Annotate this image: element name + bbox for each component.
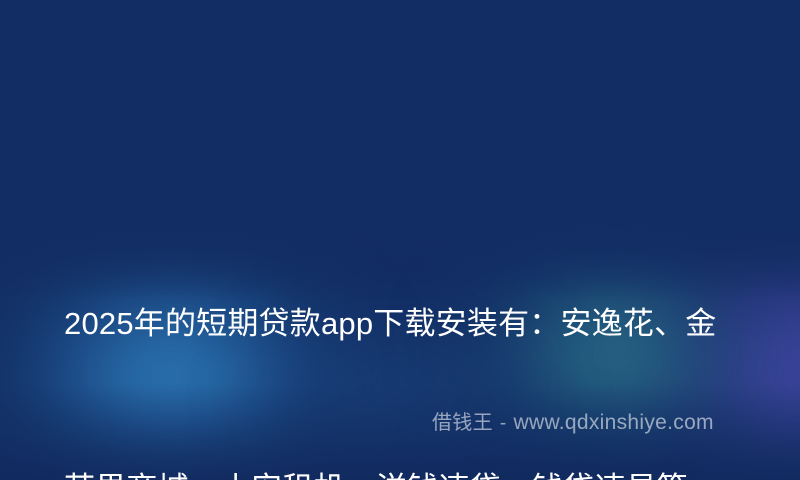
- watermark-url: www.qdxinshiye.com: [514, 411, 714, 435]
- headline-text: 2025年的短期贷款app下载安装有：安逸花、金 芒果商城、小安租机、洋钱速贷、…: [64, 186, 754, 480]
- watermark-separator: -: [500, 413, 507, 435]
- banner-image: 2025年的短期贷款app下载安装有：安逸花、金 芒果商城、小安租机、洋钱速贷、…: [0, 0, 800, 480]
- headline-line-1: 2025年的短期贷款app下载安装有：安逸花、金: [64, 296, 754, 351]
- watermark: 借钱王 - www.qdxinshiye.com: [432, 406, 714, 435]
- headline-line-2: 芒果商城、小安租机、洋钱速贷、钱袋速易等。: [64, 461, 754, 480]
- watermark-brand: 借钱王: [432, 406, 493, 435]
